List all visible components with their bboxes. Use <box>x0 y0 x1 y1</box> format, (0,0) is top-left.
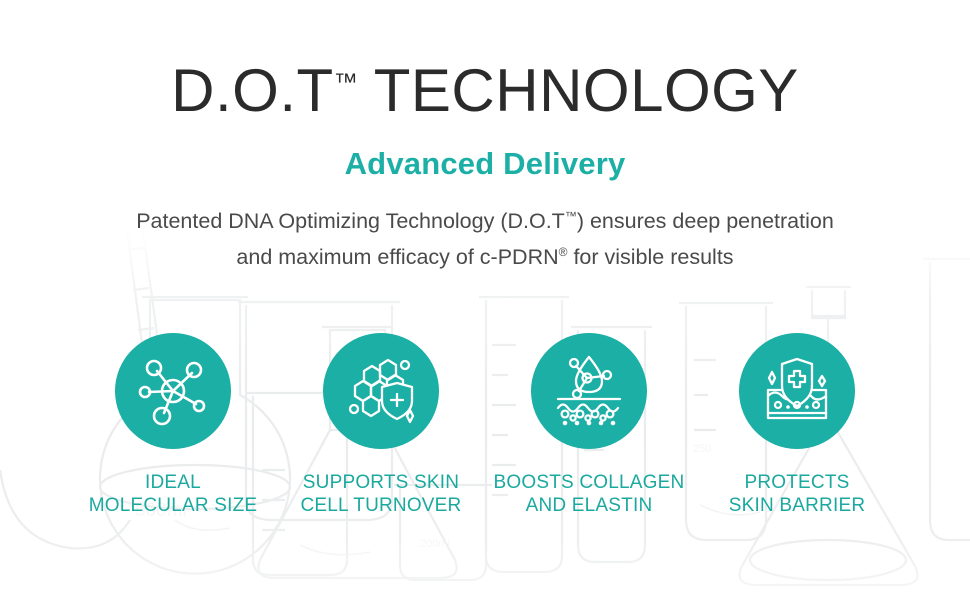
page-description: Patented DNA Optimizing Technology (D.O.… <box>0 203 970 275</box>
page-subtitle: Advanced Delivery <box>0 145 970 183</box>
description-line2-part2: for visible results <box>567 245 733 269</box>
description-line2-part1: and maximum efficacy of c-PDRN <box>236 245 558 269</box>
title-main: D.O.T <box>171 57 334 124</box>
feature-label: PROTECTS SKIN BARRIER <box>729 471 866 517</box>
description-line1-part2: ) ensures deep penetration <box>577 209 834 233</box>
page-title: D.O.T™ TECHNOLOGY <box>0 58 970 124</box>
honeycomb-shield-icon <box>344 354 418 428</box>
description-line1-part1: Patented DNA Optimizing Technology (D.O.… <box>136 209 565 233</box>
feature-icon-circle <box>115 333 231 449</box>
feature-icon-circle <box>739 333 855 449</box>
feature-item-boosts-collagen-and-elastin: BOOSTS COLLAGEN AND ELASTIN <box>485 333 693 517</box>
molecule-network-icon <box>136 354 210 428</box>
droplet-skin-layers-icon <box>552 354 626 428</box>
title-rest: TECHNOLOGY <box>358 57 799 124</box>
feature-label: IDEAL MOLECULAR SIZE <box>89 471 258 517</box>
trademark-symbol-inline: ™ <box>565 209 577 223</box>
feature-icon-circle <box>531 333 647 449</box>
feature-list: IDEAL MOLECULAR SIZE <box>0 333 970 517</box>
trademark-symbol: ™ <box>334 69 358 96</box>
feature-label: SUPPORTS SKIN CELL TURNOVER <box>301 471 462 517</box>
shield-skin-barrier-icon <box>760 354 834 428</box>
dot-technology-infographic: 500ml 200ml 250 D.O.T™ TECHNOLOGY Advanc… <box>0 0 970 600</box>
feature-icon-circle <box>323 333 439 449</box>
feature-item-ideal-molecular-size: IDEAL MOLECULAR SIZE <box>69 333 277 517</box>
feature-item-protects-skin-barrier: PROTECTS SKIN BARRIER <box>693 333 901 517</box>
feature-label: BOOSTS COLLAGEN AND ELASTIN <box>494 471 685 517</box>
feature-item-supports-skin-cell-turnover: SUPPORTS SKIN CELL TURNOVER <box>277 333 485 517</box>
